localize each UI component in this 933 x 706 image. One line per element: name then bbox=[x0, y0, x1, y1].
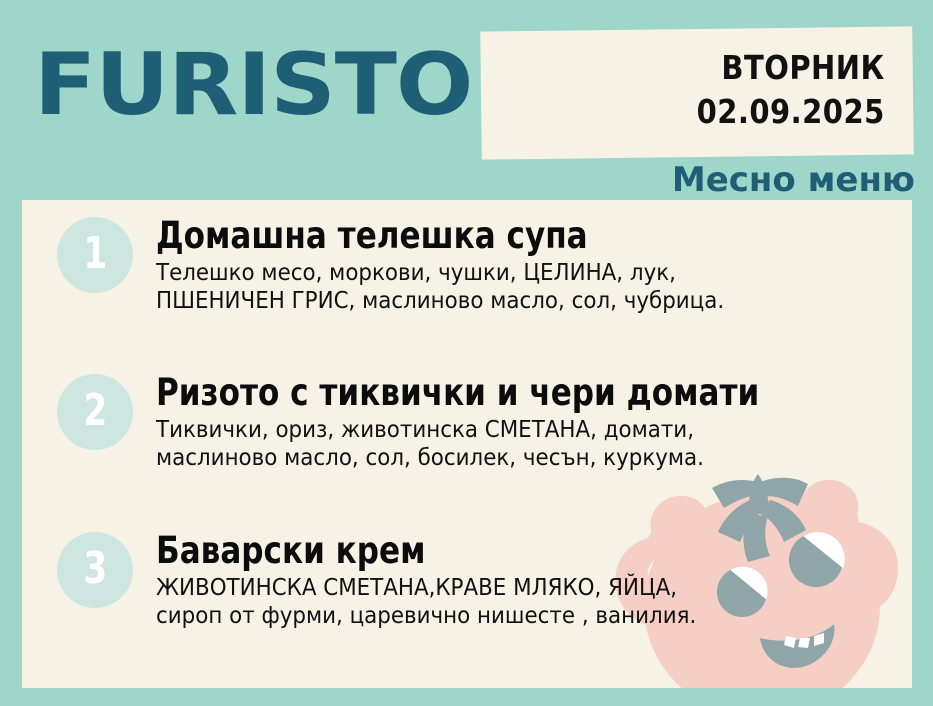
dish-text-block: Ризото с тиквички и чери домати Тиквички… bbox=[156, 372, 912, 472]
menu-card: 1 Домашна телешка супа Телешко месо, мор… bbox=[22, 200, 912, 688]
dish-number: 3 bbox=[83, 547, 107, 591]
poster-header: FURISTO ВТОРНИК 02.09.2025 Месно меню bbox=[0, 0, 933, 200]
dish-number-badge: 3 bbox=[57, 532, 133, 608]
date-box: ВТОРНИК 02.09.2025 bbox=[480, 26, 914, 159]
dish-text-block: Домашна телешка супа Телешко месо, морко… bbox=[156, 215, 912, 315]
dish-title: Баварски крем bbox=[156, 530, 791, 572]
brand-logo: FURISTO bbox=[34, 36, 472, 134]
dish-text-block: Баварски крем ЖИВОТИНСКА СМЕТАНА,КРАВЕ М… bbox=[156, 530, 912, 630]
menu-item-row: 1 Домашна телешка супа Телешко месо, мор… bbox=[22, 215, 912, 315]
menu-item-row: 3 Баварски крем ЖИВОТИНСКА СМЕТАНА,КРАВЕ… bbox=[22, 530, 912, 630]
dish-number: 2 bbox=[83, 389, 107, 433]
dish-description-line: ЖИВОТИНСКА СМЕТАНА,КРАВЕ МЛЯКО, ЯЙЦА, bbox=[156, 574, 859, 602]
dish-title: Ризото с тиквички и чери домати bbox=[156, 372, 791, 414]
dish-description-line: Тиквички, ориз, животинска СМЕТАНА, дома… bbox=[156, 416, 859, 444]
menu-poster: FURISTO ВТОРНИК 02.09.2025 Месно меню bbox=[0, 0, 933, 706]
dish-description-line: ПШЕНИЧЕН ГРИС, маслиново масло, сол, чуб… bbox=[156, 287, 859, 315]
dish-number-badge: 2 bbox=[57, 374, 133, 450]
date-label: 02.09.2025 bbox=[697, 90, 885, 134]
dish-description-line: сироп от фурми, царевично нишесте , вани… bbox=[156, 602, 859, 630]
menu-item-row: 2 Ризото с тиквички и чери домати Тиквич… bbox=[22, 372, 912, 472]
dish-title: Домашна телешка супа bbox=[156, 215, 791, 257]
dish-number-badge: 1 bbox=[57, 217, 133, 293]
section-label: Месно меню bbox=[672, 160, 915, 200]
dish-description-line: Телешко месо, моркови, чушки, ЦЕЛИНА, лу… bbox=[156, 259, 859, 287]
date-box-content: ВТОРНИК 02.09.2025 bbox=[671, 46, 885, 134]
dish-list: 1 Домашна телешка супа Телешко месо, мор… bbox=[22, 200, 912, 688]
weekday-label: ВТОРНИК bbox=[697, 46, 885, 90]
dish-description-line: маслиново масло, сол, босилек, чесън, ку… bbox=[156, 444, 859, 472]
dish-number: 1 bbox=[83, 232, 107, 276]
